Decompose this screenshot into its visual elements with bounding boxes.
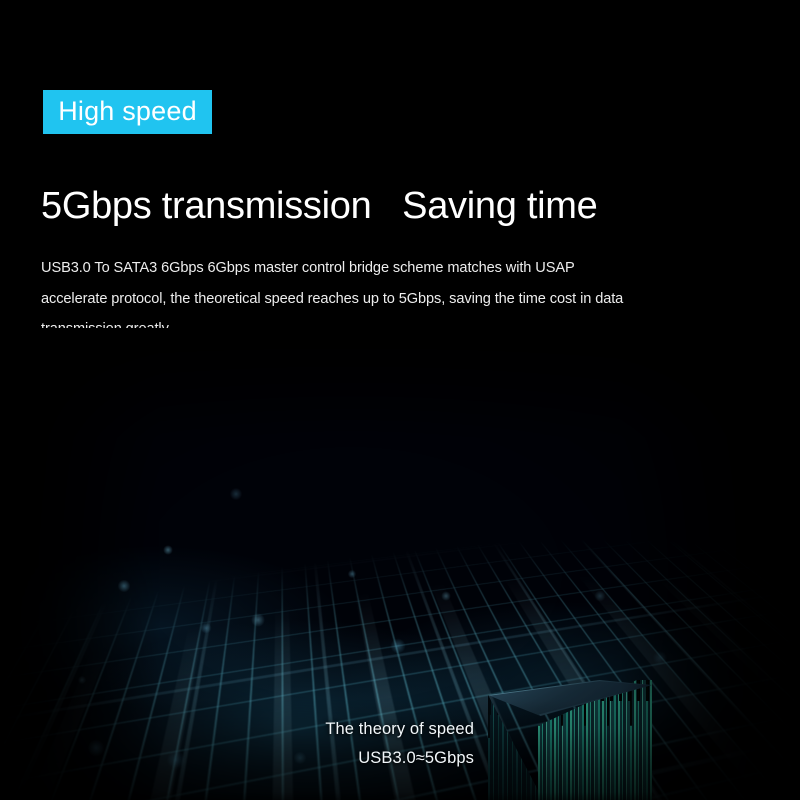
page-title: 5Gbps transmission Saving time — [41, 183, 597, 231]
high-speed-badge-label: High speed — [58, 98, 197, 127]
promo-page: High speed 5Gbps transmission Saving tim… — [0, 0, 800, 800]
bar-usb3-label-line2: USB3.0≈5Gbps — [309, 749, 474, 768]
bar-usb3-label: The theory of speed USB3.0≈5Gbps — [309, 720, 474, 768]
speed-comparison-visual: The theory of speed USB3.0≈5Gbps The the… — [0, 328, 800, 800]
bar-usb3-label-line1: The theory of speed — [325, 720, 474, 738]
bar-usb3 — [470, 680, 660, 800]
high-speed-badge: High speed — [43, 90, 212, 134]
